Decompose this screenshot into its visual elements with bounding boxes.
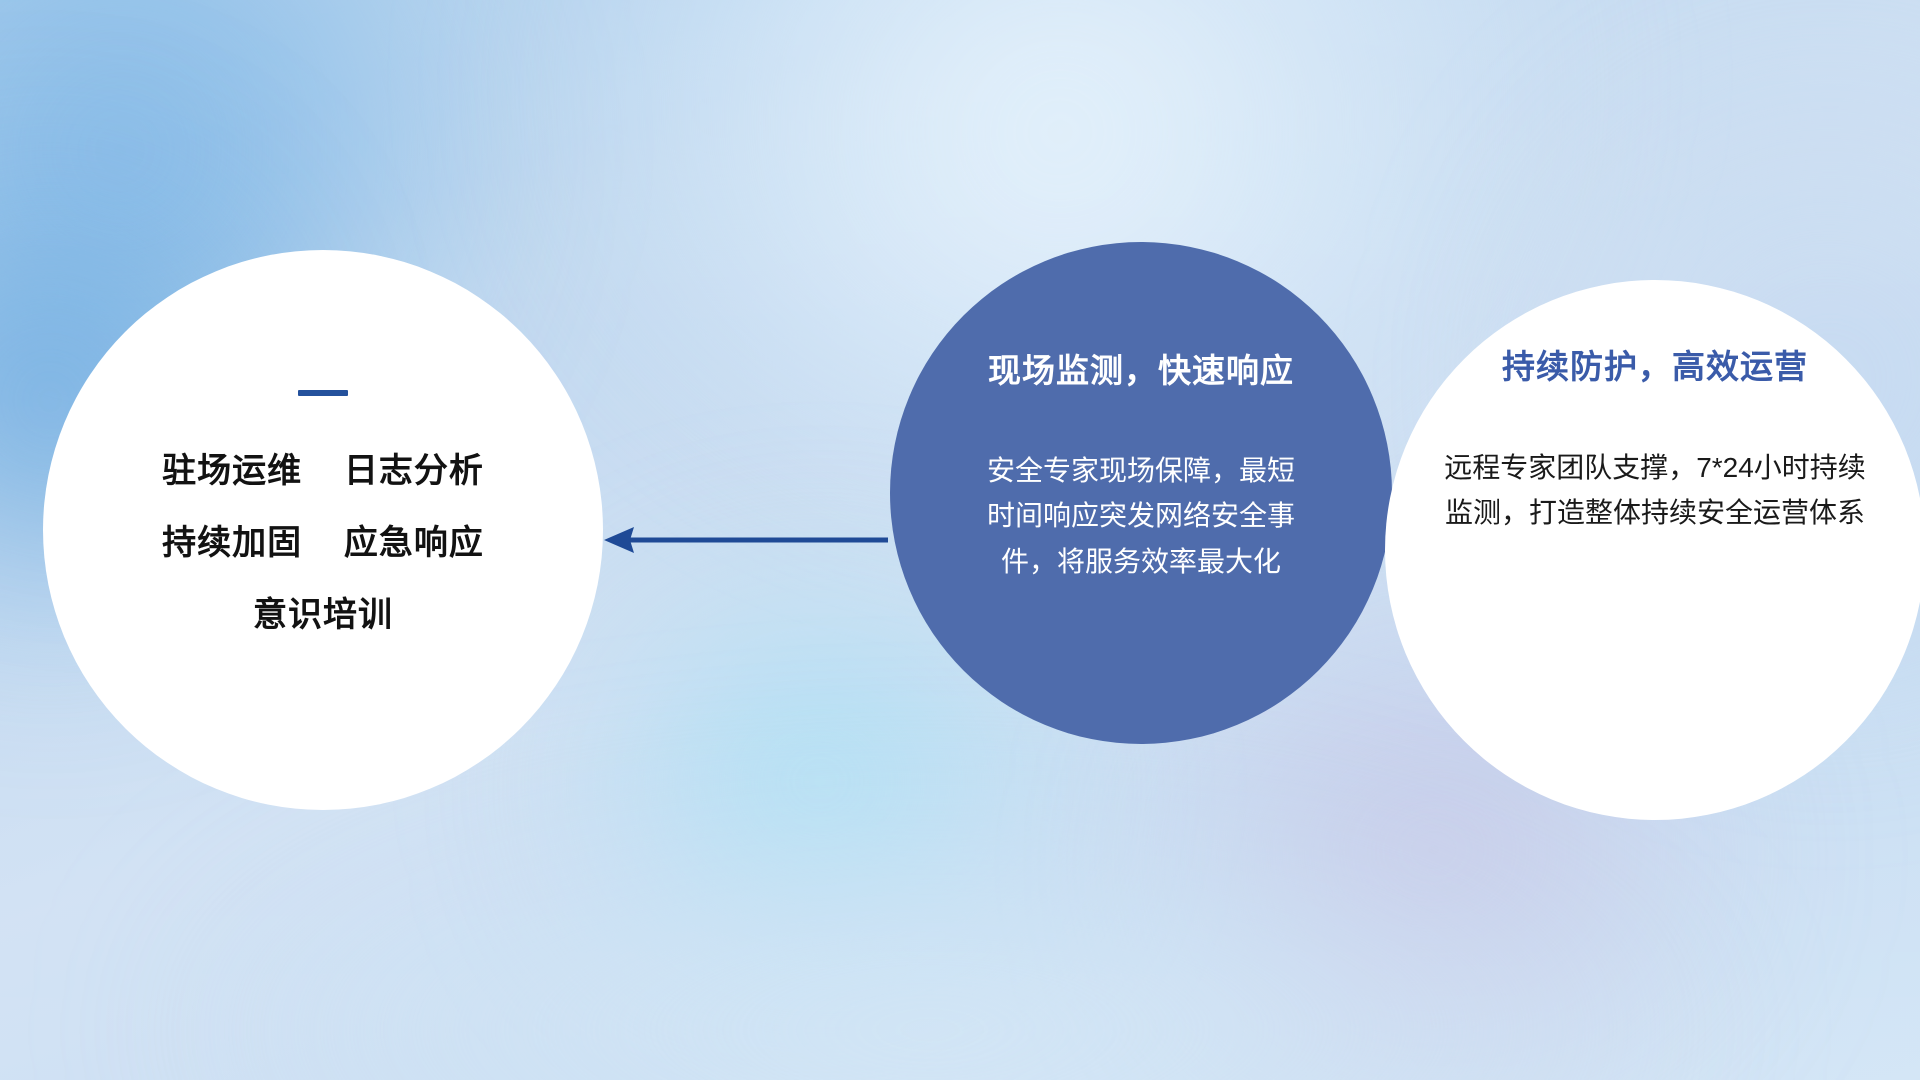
slide-canvas: 驻场运维 日志分析 持续加固 应急响应 意识培训 现场监测，快速响应 安全专家现…	[0, 0, 1920, 1080]
capability-line-1: 驻场运维 日志分析	[162, 454, 484, 488]
capability-line-3: 意识培训	[253, 598, 393, 632]
divider-dash	[298, 390, 348, 396]
left-arrow-icon	[600, 520, 890, 560]
circle-service-capabilities[interactable]: 驻场运维 日志分析 持续加固 应急响应 意识培训	[43, 250, 603, 810]
circle-continuous-protection[interactable]	[1385, 280, 1920, 820]
service-capabilities-content: 驻场运维 日志分析 持续加固 应急响应 意识培训	[43, 390, 603, 632]
circle-onsite-monitoring[interactable]	[890, 242, 1392, 744]
capability-line-2: 持续加固 应急响应	[162, 526, 484, 560]
